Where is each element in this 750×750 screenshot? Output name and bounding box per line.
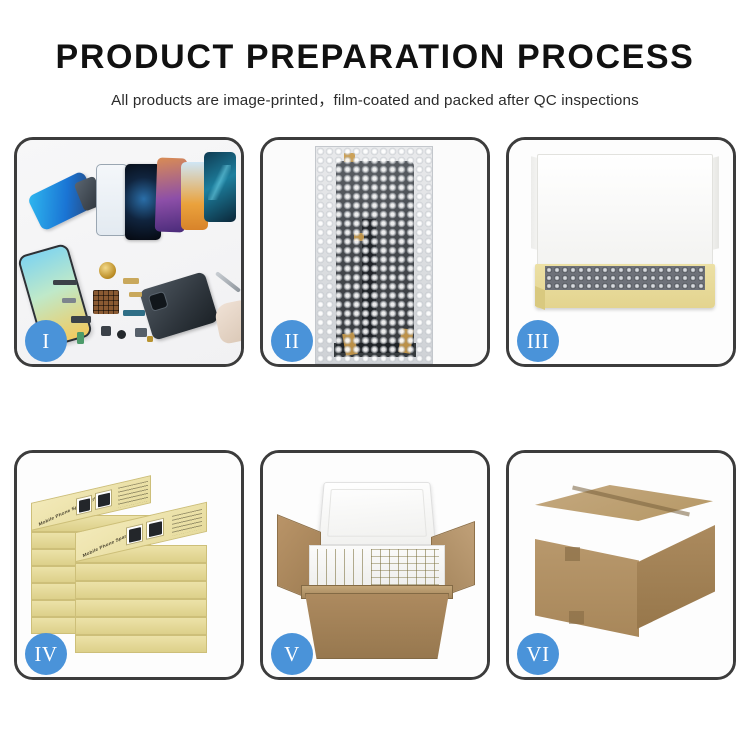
carton-tab-lower (569, 611, 584, 624)
spare-part (135, 328, 147, 337)
stacked-box (75, 617, 207, 635)
foam-lid (318, 482, 436, 545)
yellow-boxes-row-2 (371, 549, 439, 589)
blue-phone-shell (27, 170, 99, 231)
screen-protector-glass (96, 164, 128, 236)
process-step-panel-3[interactable]: III (506, 137, 736, 367)
process-step-panel-5[interactable]: V (260, 450, 490, 680)
box-white-lid (537, 154, 713, 274)
spare-part (117, 330, 126, 339)
process-step-panel-1[interactable]: I (14, 137, 244, 367)
page-subtitle: All products are image-printed，film-coat… (0, 88, 750, 110)
chip-board-part (93, 290, 119, 314)
spare-part (147, 336, 153, 342)
tweezer-tool (215, 271, 241, 293)
bubble-wrap-bag (315, 146, 433, 364)
gold-speaker-part (99, 262, 116, 279)
carton-tab-upper (565, 547, 580, 561)
carton-side-face (637, 525, 715, 629)
box-spec-lines (172, 509, 202, 536)
phone-back-housing (139, 271, 219, 341)
spare-part (123, 310, 145, 316)
tray-left-lip (535, 286, 545, 310)
spare-part (71, 316, 91, 323)
spare-part (123, 278, 139, 284)
spare-part (53, 280, 77, 285)
bubble-texture (316, 147, 432, 363)
step-badge-2: II (271, 320, 313, 362)
step-badge-4: IV (25, 633, 67, 675)
spare-part (129, 292, 142, 297)
step-badge-1: I (25, 320, 67, 362)
spare-part (62, 298, 76, 303)
box-window-2 (95, 489, 112, 510)
stacked-box (75, 599, 207, 617)
step-badge-3: III (517, 320, 559, 362)
teal-gradient-phone (204, 152, 236, 222)
process-step-panel-2[interactable]: II (260, 137, 490, 367)
page-header: PRODUCT PREPARATION PROCESS All products… (0, 0, 750, 110)
stacked-box (75, 581, 207, 599)
bubble-wrapped-contents (545, 266, 705, 290)
carton-front-face (535, 539, 639, 637)
process-panel-grid: I II III (14, 137, 736, 680)
technician-hand (213, 299, 241, 345)
box-window-1 (126, 524, 143, 546)
spare-part (101, 326, 111, 336)
carton-body (305, 593, 449, 659)
process-step-panel-6[interactable]: VI (506, 450, 736, 680)
spare-part (77, 332, 84, 344)
step-badge-6: VI (517, 633, 559, 675)
box-spec-lines (118, 481, 148, 508)
box-window-2 (146, 518, 164, 540)
process-step-panel-4[interactable]: Mobile Phone Spare Parts Mobile Phone Sp… (14, 450, 244, 680)
stacked-box (75, 563, 207, 581)
step-badge-5: V (271, 633, 313, 675)
box-window-1 (76, 495, 92, 516)
stacked-box (75, 635, 207, 653)
page-title: PRODUCT PREPARATION PROCESS (0, 40, 750, 76)
